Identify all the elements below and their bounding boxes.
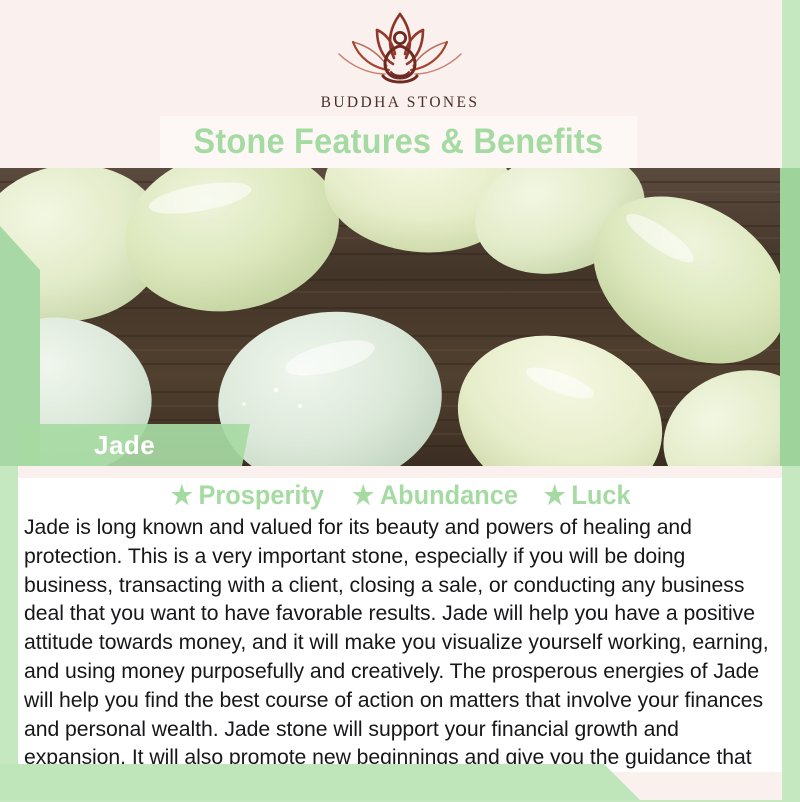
stone-photo [0, 168, 782, 466]
bottom-accent-band [0, 764, 640, 800]
page-title: Stone Features & Benefits [194, 122, 604, 162]
benefit-item: ★ Abundance [352, 480, 518, 511]
stone-description: Jade is long known and valued for its be… [18, 512, 782, 772]
stone-name: Jade [94, 430, 155, 461]
infographic-page: BUDDHA STONES Stone Features & Benefits [0, 0, 800, 800]
benefit-item: ★ Prosperity [171, 480, 324, 511]
brand-logo: BUDDHA STONES [0, 8, 800, 112]
title-banner: Stone Features & Benefits [160, 116, 637, 168]
content-panel: ★ Prosperity ★ Abundance ★ Luck Jade is … [18, 466, 782, 800]
benefit-label: Abundance [380, 480, 518, 511]
benefit-label: Prosperity [199, 480, 325, 511]
star-icon: ★ [352, 482, 374, 508]
benefits-row: ★ Prosperity ★ Abundance ★ Luck [18, 478, 782, 512]
lotus-meditation-icon [325, 8, 475, 90]
benefit-label: Luck [572, 480, 631, 511]
accent-shape-right [780, 168, 800, 466]
brand-name: BUDDHA STONES [321, 94, 480, 112]
star-icon: ★ [544, 482, 566, 508]
benefit-item: ★ Luck [544, 480, 631, 511]
left-frame-strip [0, 466, 18, 800]
star-icon: ★ [171, 482, 193, 508]
stone-name-band: Jade [18, 424, 250, 466]
